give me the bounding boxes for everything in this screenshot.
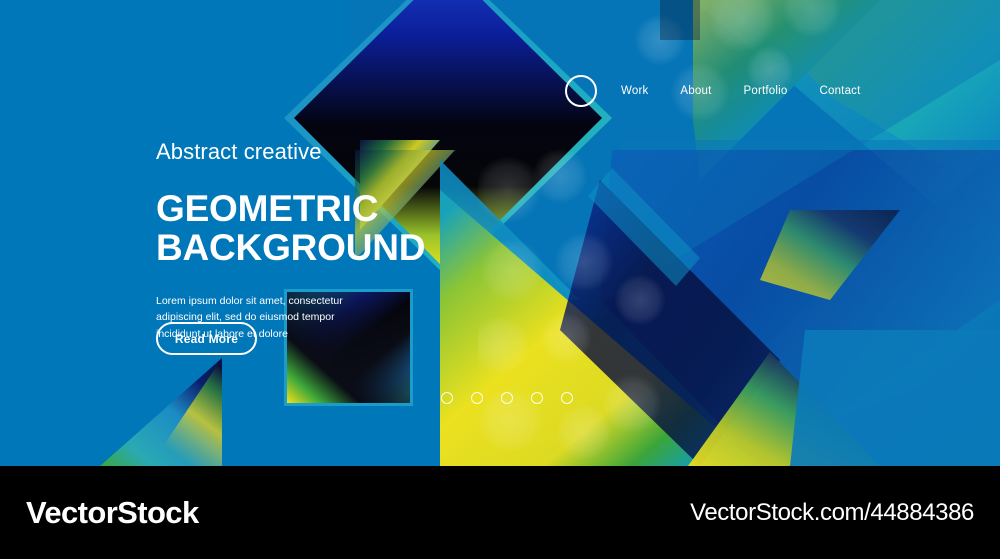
shape-dark-corner-accent (660, 0, 700, 40)
nav-link-about[interactable]: About (680, 85, 711, 97)
read-more-button[interactable]: Read More (156, 322, 257, 355)
hero-title-line-1: GEOMETRIC (156, 190, 456, 228)
nav-link-contact[interactable]: Contact (819, 85, 860, 97)
carousel-dot-4[interactable] (531, 392, 543, 404)
carousel-dot-3[interactable] (501, 392, 513, 404)
page-title: GEOMETRIC BACKGROUND (156, 190, 456, 267)
hero-artwork: Work About Portfolio Contact Abstract cr… (0, 0, 1000, 466)
vectorstock-url: VectorStock.com/44884386 (690, 499, 974, 527)
watermark-bar: VectorStock VectorStock.com/44884386 (0, 466, 1000, 559)
nav-links: Work About Portfolio Contact (621, 85, 861, 97)
carousel-dots (441, 392, 573, 404)
carousel-dot-1[interactable] (441, 392, 453, 404)
hero-title-line-2: BACKGROUND (156, 229, 456, 267)
carousel-dot-5[interactable] (561, 392, 573, 404)
nav-link-portfolio[interactable]: Portfolio (743, 85, 787, 97)
carousel-dot-2[interactable] (471, 392, 483, 404)
screenshot-root: Work About Portfolio Contact Abstract cr… (0, 0, 1000, 559)
nav-link-work[interactable]: Work (621, 85, 648, 97)
shape-bottom-right-blue-plane (790, 330, 1000, 466)
vectorstock-logo-text: VectorStock (26, 495, 199, 531)
hero-body-line-1: Lorem ipsum dolor sit amet, consectetur (156, 293, 356, 309)
hero-copy: Abstract creative GEOMETRIC BACKGROUND L… (156, 140, 456, 342)
hero-kicker: Abstract creative (156, 140, 456, 164)
site-nav: Work About Portfolio Contact (565, 70, 995, 112)
circle-logo-icon[interactable] (565, 75, 597, 107)
